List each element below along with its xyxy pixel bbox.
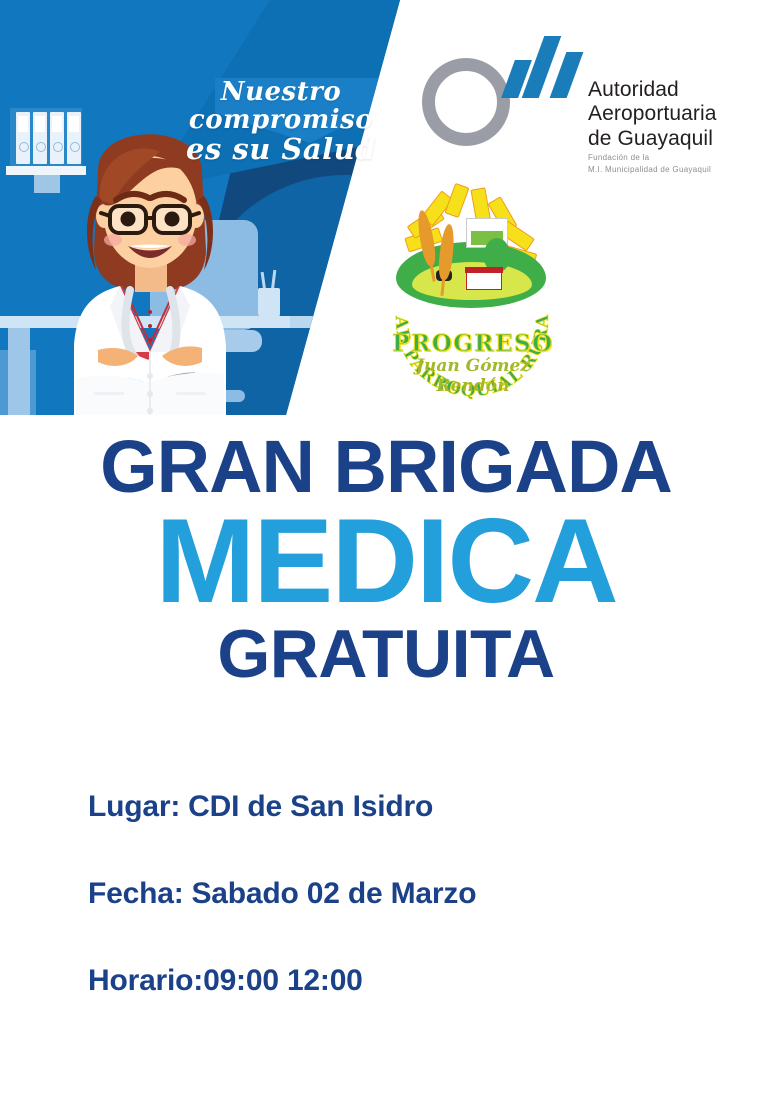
detail-value-horario: 09:00 12:00 [203, 964, 363, 997]
gad-parroquial-seal: GAD PARROQUIAL RURAL [378, 180, 568, 380]
desk-leg [8, 328, 30, 415]
aag-sub-line-1: Fundación de la [588, 152, 766, 164]
logo-zone: Autoridad Aeroportuaria de Guayaquil Fun… [400, 0, 772, 415]
tagline-line-3: es su Salud [186, 134, 376, 165]
seal-script-name: Juan Gómez Rendón [378, 356, 568, 396]
detail-row-horario: Horario:09:00 12:00 [88, 964, 708, 998]
aag-line-2: Aeroportuaria [588, 102, 766, 126]
detail-value-lugar: CDI de San Isidro [188, 790, 433, 823]
tagline: Nuestro compromiso es su Salud [186, 78, 376, 165]
headline-line-3: GRATUITA [0, 620, 772, 688]
detail-value-fecha: Sabado 02 de Marzo [192, 877, 477, 910]
ascending-bars-icon [504, 36, 588, 98]
detail-label-fecha: Fecha: [88, 877, 184, 910]
detail-label-horario: Horario: [88, 964, 203, 997]
house-icon [466, 272, 502, 290]
headline-block: GRAN BRIGADA MEDICA GRATUITA [0, 432, 772, 688]
aag-sub-line-2: M.I. Municipalidad de Guayaquil [588, 164, 766, 176]
detail-row-fecha: Fecha:Sabado 02 de Marzo [88, 877, 708, 911]
headline-line-2: MEDICA [0, 504, 772, 618]
seal-progreso-text: PROGRESO [378, 330, 568, 357]
detail-label-lugar: Lugar: [88, 790, 180, 823]
poster: Nuestro compromiso es su Salud Autoridad… [0, 0, 772, 1097]
top-banner: Nuestro compromiso es su Salud Autoridad… [0, 0, 772, 415]
detail-row-lugar: Lugar:CDI de San Isidro [88, 790, 708, 824]
illustration-panel [0, 0, 432, 415]
aag-line-1: Autoridad [588, 78, 766, 102]
headline-line-1: GRAN BRIGADA [0, 432, 772, 502]
tagline-line-2: compromiso [186, 106, 376, 134]
ring-logo-icon [422, 58, 510, 146]
event-details: Lugar:CDI de San Isidro Fecha:Sabado 02 … [88, 790, 708, 1051]
airport-authority-name: Autoridad Aeroportuaria de Guayaquil [588, 78, 766, 151]
aag-line-3: de Guayaquil [588, 127, 766, 151]
pen-cup-icon [258, 288, 280, 318]
tagline-line-1: Nuestro [186, 78, 376, 106]
airport-authority-subtitle: Fundación de la M.I. Municipalidad de Gu… [588, 152, 766, 176]
